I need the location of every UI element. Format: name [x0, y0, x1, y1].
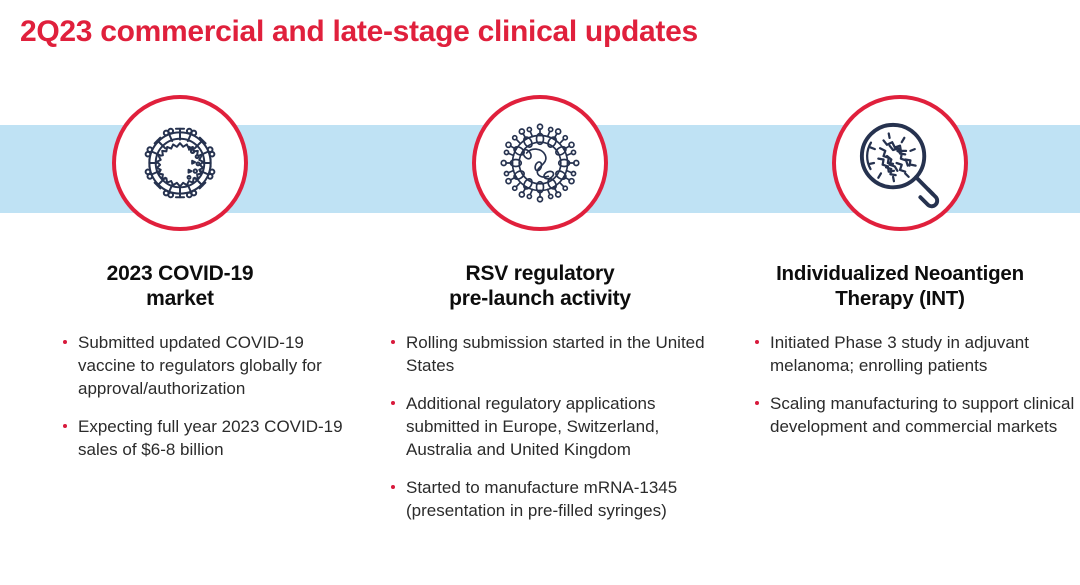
bullet-list: Submitted updated COVID-19 vaccine to re…: [58, 331, 358, 461]
list-item: Rolling submission started in the United…: [386, 331, 716, 377]
rsv-virus-icon: [472, 95, 608, 231]
column-int: Individualized Neoantigen Therapy (INT) …: [720, 0, 1080, 585]
bullet-dot-icon: [391, 485, 395, 489]
coronavirus-icon: [112, 95, 248, 231]
bullet-list: Rolling submission started in the United…: [386, 331, 716, 522]
list-item-text: Initiated Phase 3 study in adjuvant mela…: [770, 333, 1029, 375]
list-item-text: Expecting full year 2023 COVID-19 sales …: [78, 417, 343, 459]
bullet-dot-icon: [755, 401, 759, 405]
list-item-text: Started to manufacture mRNA-1345 (presen…: [406, 478, 677, 520]
list-item-text: Additional regulatory applications submi…: [406, 394, 659, 459]
heading-line: pre-launch activity: [449, 287, 631, 310]
bullet-dot-icon: [63, 340, 67, 344]
heading-line: Individualized Neoantigen: [776, 262, 1024, 285]
bullet-dot-icon: [755, 340, 759, 344]
column-rsv: RSV regulatory pre-launch activity Rolli…: [360, 0, 720, 585]
list-item: Submitted updated COVID-19 vaccine to re…: [58, 331, 358, 400]
heading-line: Therapy (INT): [835, 287, 965, 310]
bullet-dot-icon: [63, 424, 67, 428]
list-item: Additional regulatory applications submi…: [386, 392, 716, 461]
bullet-dot-icon: [391, 340, 395, 344]
list-item: Initiated Phase 3 study in adjuvant mela…: [750, 331, 1080, 377]
list-item: Expecting full year 2023 COVID-19 sales …: [58, 415, 358, 461]
bullet-list: Initiated Phase 3 study in adjuvant mela…: [750, 331, 1080, 438]
heading-line: market: [146, 287, 214, 310]
list-item: Scaling manufacturing to support clinica…: [750, 392, 1080, 438]
column-heading: 2023 COVID-19 market: [0, 261, 360, 311]
heading-line: RSV regulatory: [466, 262, 615, 285]
column-covid: 2023 COVID-19 market Submitted updated C…: [0, 0, 360, 585]
list-item-text: Scaling manufacturing to support clinica…: [770, 394, 1074, 436]
bullet-dot-icon: [391, 401, 395, 405]
magnifier-tumor-cell-icon: [832, 95, 968, 231]
list-item-text: Submitted updated COVID-19 vaccine to re…: [78, 333, 322, 398]
heading-line: 2023 COVID-19: [107, 262, 254, 285]
column-heading: Individualized Neoantigen Therapy (INT): [722, 261, 1078, 311]
column-heading: RSV regulatory pre-launch activity: [360, 261, 720, 311]
columns-container: 2023 COVID-19 market Submitted updated C…: [0, 0, 1080, 585]
list-item-text: Rolling submission started in the United…: [406, 333, 705, 375]
list-item: Started to manufacture mRNA-1345 (presen…: [386, 476, 716, 522]
